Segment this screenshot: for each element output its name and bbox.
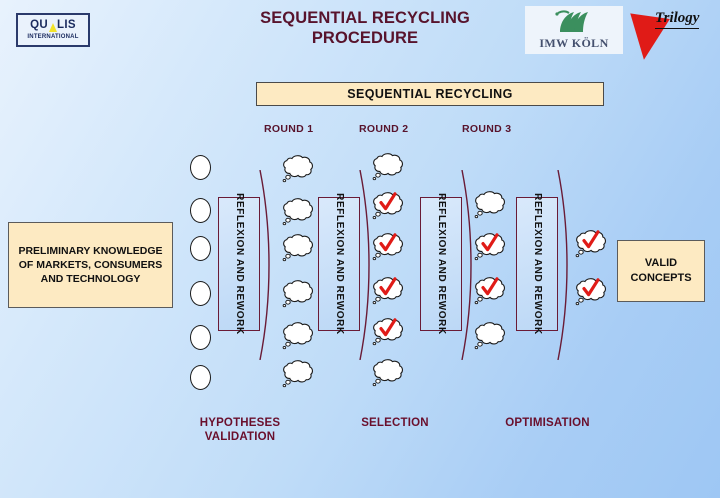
phase-label: HYPOTHESESVALIDATION [180, 416, 300, 445]
sequential-recycling-banner: SEQUENTIAL RECYCLING [256, 82, 604, 106]
phase-label-line-1: OPTIMISATION [485, 416, 610, 430]
reflexion-and-rework-label: REFLEXION AND REWORK [233, 193, 245, 335]
qualis-text-after: LIS [57, 20, 76, 32]
thought-cloud-empty [281, 358, 315, 388]
qualis-triangle-icon [49, 23, 57, 32]
thought-cloud-empty [281, 232, 315, 262]
qualis-logo: QULIS INTERNATIONAL [16, 13, 90, 47]
phase-label-line-1: SELECTION [335, 416, 455, 430]
idea-circle [190, 155, 211, 180]
thought-cloud-checked [371, 190, 405, 220]
thought-cloud-checked [371, 275, 405, 305]
reflexion-and-rework-label: REFLEXION AND REWORK [333, 193, 345, 335]
idea-circle [190, 281, 211, 306]
imw-koeln-label: IMW KÖLN [525, 36, 623, 51]
thought-cloud-checked [371, 231, 405, 261]
thought-cloud-empty [371, 357, 405, 387]
reflexion-and-rework-label: REFLEXION AND REWORK [435, 193, 447, 335]
reflexion-and-rework-bar: REFLEXION AND REWORK [218, 197, 260, 331]
page-title-line-1: SEQUENTIAL RECYCLING [210, 8, 520, 28]
reflexion-and-rework-label: REFLEXION AND REWORK [531, 193, 543, 335]
trilogy-logo: Trilogy [627, 6, 715, 56]
phase-label: OPTIMISATION [485, 416, 610, 430]
phase-label-line-2: VALIDATION [180, 430, 300, 444]
trilogy-label: Trilogy [655, 10, 699, 29]
preliminary-knowledge-box: PRELIMINARY KNOWLEDGE OF MARKETS, CONSUM… [8, 222, 173, 308]
reflexion-bar-curve [556, 170, 584, 360]
thought-cloud-empty [281, 320, 315, 350]
reflexion-and-rework-bar: REFLEXION AND REWORK [318, 197, 360, 331]
phase-label-line-1: HYPOTHESES [180, 416, 300, 430]
thought-cloud-checked [473, 275, 507, 305]
round-label-2: ROUND 2 [359, 123, 408, 135]
valid-concepts-box: VALID CONCEPTS [617, 240, 705, 302]
idea-circle [190, 325, 211, 350]
thought-cloud-checked [473, 231, 507, 261]
phase-label: SELECTION [335, 416, 455, 430]
idea-circle [190, 198, 211, 223]
thought-cloud-empty [281, 196, 315, 226]
thought-cloud-checked [574, 276, 608, 306]
thought-cloud-empty [473, 320, 507, 350]
thought-cloud-checked [574, 228, 608, 258]
imw-leaf-icon [554, 10, 594, 38]
thought-cloud-empty [281, 153, 315, 183]
page-title-line-2: PROCEDURE [210, 28, 520, 48]
round-label-3: ROUND 3 [462, 123, 511, 135]
idea-circle [190, 236, 211, 261]
imw-koeln-logo: IMW KÖLN [525, 6, 623, 54]
page-title: SEQUENTIAL RECYCLING PROCEDURE [210, 8, 520, 48]
round-label-1: ROUND 1 [264, 123, 313, 135]
reflexion-and-rework-bar: REFLEXION AND REWORK [420, 197, 462, 331]
thought-cloud-empty [281, 278, 315, 308]
thought-cloud-empty [371, 151, 405, 181]
reflexion-and-rework-bar: REFLEXION AND REWORK [516, 197, 558, 331]
qualis-wordmark: QULIS [30, 20, 76, 32]
qualis-text-before: QU [30, 20, 48, 32]
thought-cloud-empty [473, 189, 507, 219]
qualis-subtitle: INTERNATIONAL [27, 34, 78, 40]
thought-cloud-checked [371, 316, 405, 346]
slide-canvas: QULIS INTERNATIONAL SEQUENTIAL RECYCLING… [0, 0, 720, 498]
idea-circle [190, 365, 211, 390]
